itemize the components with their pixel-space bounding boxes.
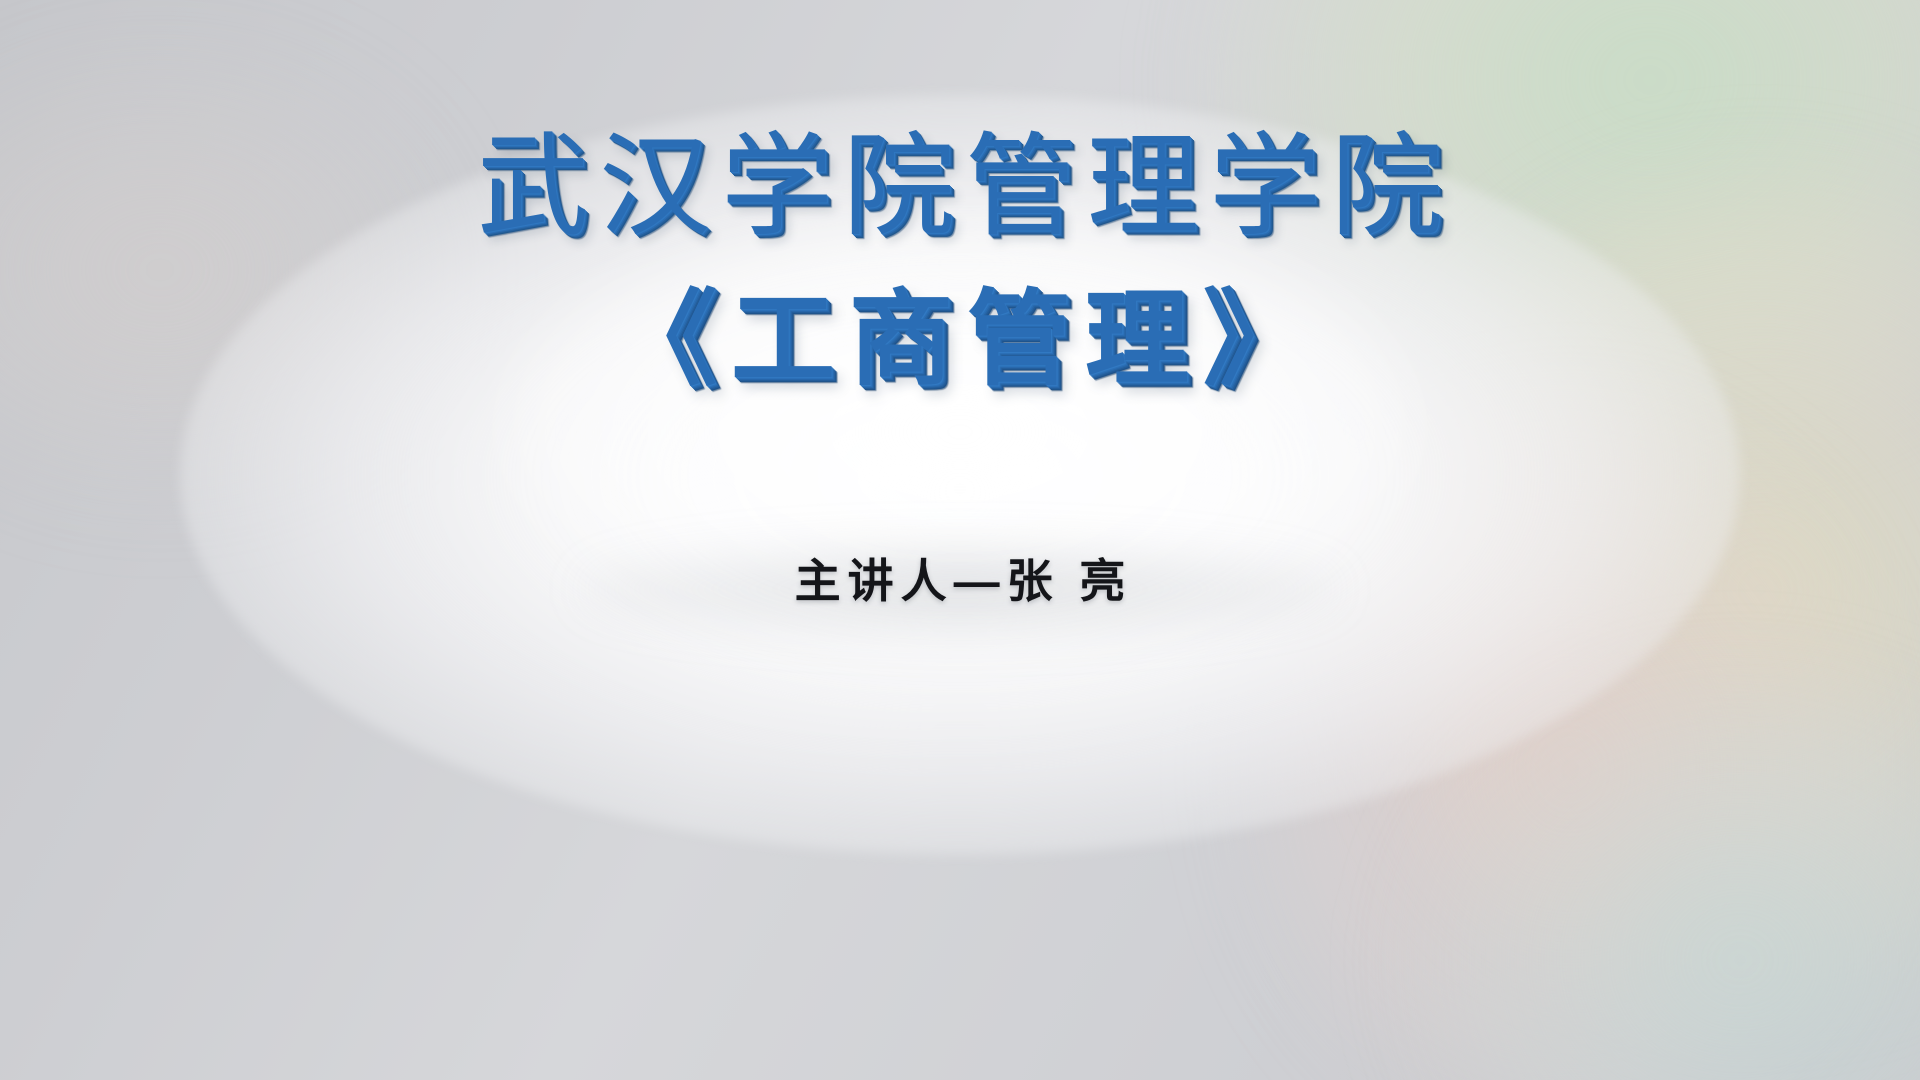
presenter-name: 主讲人—张 亮 bbox=[788, 545, 1133, 611]
title-slide: 武汉学院管理学院 《工商管理》 主讲人—张 亮 bbox=[0, 0, 1920, 1080]
course-title: 《工商管理》 bbox=[599, 283, 1321, 397]
slide-content: 武汉学院管理学院 《工商管理》 主讲人—张 亮 bbox=[0, 0, 1920, 1080]
organization-title: 武汉学院管理学院 bbox=[467, 128, 1453, 249]
presenter-block: 主讲人—张 亮 bbox=[0, 545, 1920, 611]
